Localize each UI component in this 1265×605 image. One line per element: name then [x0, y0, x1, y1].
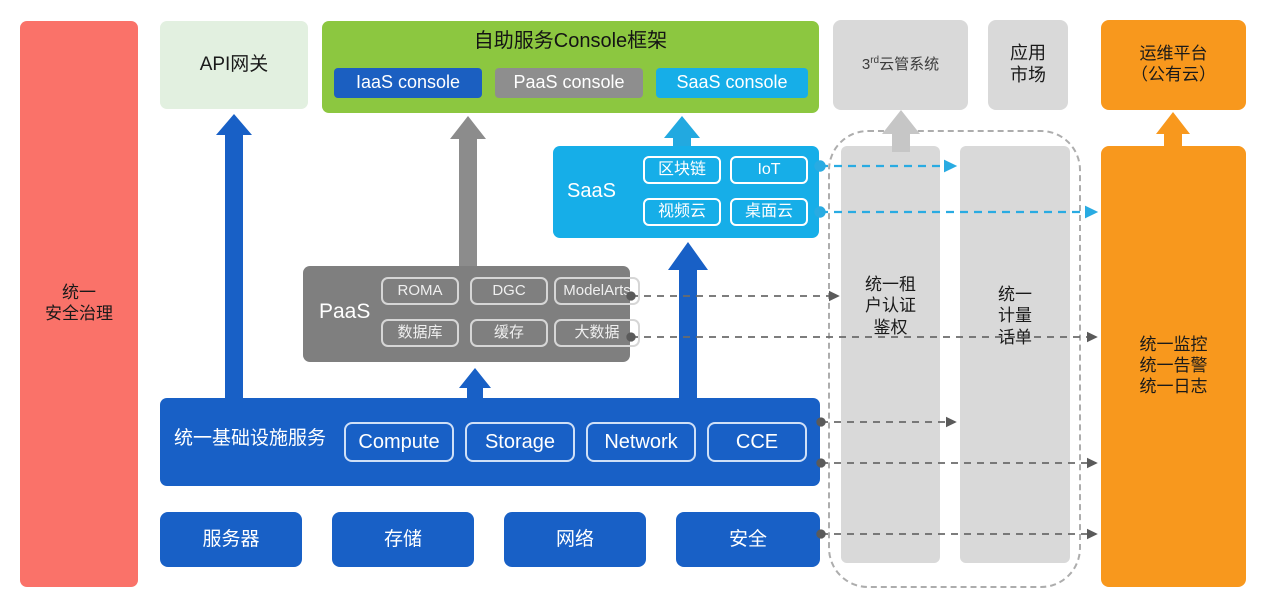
paas-chip-cache[interactable]: 缓存 — [470, 319, 548, 347]
paas-chip-roma[interactable]: ROMA — [381, 277, 459, 305]
arrow-iaas-to-api-gateway — [216, 114, 252, 398]
paas-chip-modelarts[interactable]: ModelArts — [554, 277, 640, 305]
third-party-superscript: rd — [870, 55, 879, 66]
panel-saas: SaaS 区块链 IoT 视频云 桌面云 — [553, 146, 819, 238]
chip-iaas-console[interactable]: IaaS console — [334, 68, 482, 98]
panel-paas: PaaS ROMA DGC ModelArts 数据库 缓存 大数据 — [303, 266, 630, 362]
panel-app-market: 应用 市场 — [988, 20, 1068, 110]
panel-third-party-cloud-management: 3rd云管系统 — [833, 20, 968, 110]
architecture-diagram: 统一 安全治理 API网关 自助服务Console框架 IaaS console… — [0, 0, 1265, 605]
third-party-label: 云管系统 — [879, 56, 939, 73]
paas-chip-dgc[interactable]: DGC — [470, 277, 548, 305]
chip-saas-console[interactable]: SaaS console — [656, 68, 808, 98]
panel-resource-server: 服务器 — [160, 512, 302, 567]
saas-chip-video-cloud[interactable]: 视频云 — [643, 198, 721, 226]
column-unified-metering-billing: 统一 计量 话单 — [960, 146, 1070, 563]
panel-unified-infrastructure-service: 统一基础设施服务 Compute Storage Network CCE — [160, 398, 820, 486]
iaas-chip-cce[interactable]: CCE — [707, 422, 807, 462]
arrow-iaas-to-saas — [668, 242, 708, 398]
panel-resource-security: 安全 — [676, 512, 820, 567]
iaas-title: 统一基础设施服务 — [174, 427, 326, 450]
arrow-iaas-to-paas — [459, 368, 491, 398]
iaas-chip-compute[interactable]: Compute — [344, 422, 454, 462]
arrow-ops-body-to-ops-top — [1156, 112, 1190, 146]
saas-chip-blockchain[interactable]: 区块链 — [643, 156, 721, 184]
panel-console-framework: 自助服务Console框架 IaaS console PaaS console … — [322, 21, 819, 113]
panel-ops-platform-capabilities: 统一监控 统一告警 统一日志 — [1101, 146, 1246, 587]
third-party-prefix: 3 — [862, 56, 870, 73]
paas-title: PaaS — [319, 299, 370, 325]
arrow-saas-to-saas-console — [664, 116, 700, 146]
iaas-chip-storage[interactable]: Storage — [465, 422, 575, 462]
arrow-paas-to-console — [450, 116, 486, 266]
paas-chip-database[interactable]: 数据库 — [381, 319, 459, 347]
saas-title: SaaS — [567, 179, 616, 203]
panel-api-gateway: API网关 — [160, 21, 308, 109]
saas-chip-desktop-cloud[interactable]: 桌面云 — [730, 198, 808, 226]
chip-paas-console[interactable]: PaaS console — [495, 68, 643, 98]
panel-unified-security-governance: 统一 安全治理 — [20, 21, 138, 587]
iaas-chip-network[interactable]: Network — [586, 422, 696, 462]
console-framework-title: 自助服务Console框架 — [322, 29, 819, 53]
panel-resource-network: 网络 — [504, 512, 646, 567]
panel-ops-platform-public-cloud: 运维平台 （公有云） — [1101, 20, 1246, 110]
paas-chip-bigdata[interactable]: 大数据 — [554, 319, 640, 347]
panel-resource-storage: 存储 — [332, 512, 474, 567]
column-unified-tenant-auth: 统一租 户认证 鉴权 — [841, 146, 940, 563]
saas-chip-iot[interactable]: IoT — [730, 156, 808, 184]
